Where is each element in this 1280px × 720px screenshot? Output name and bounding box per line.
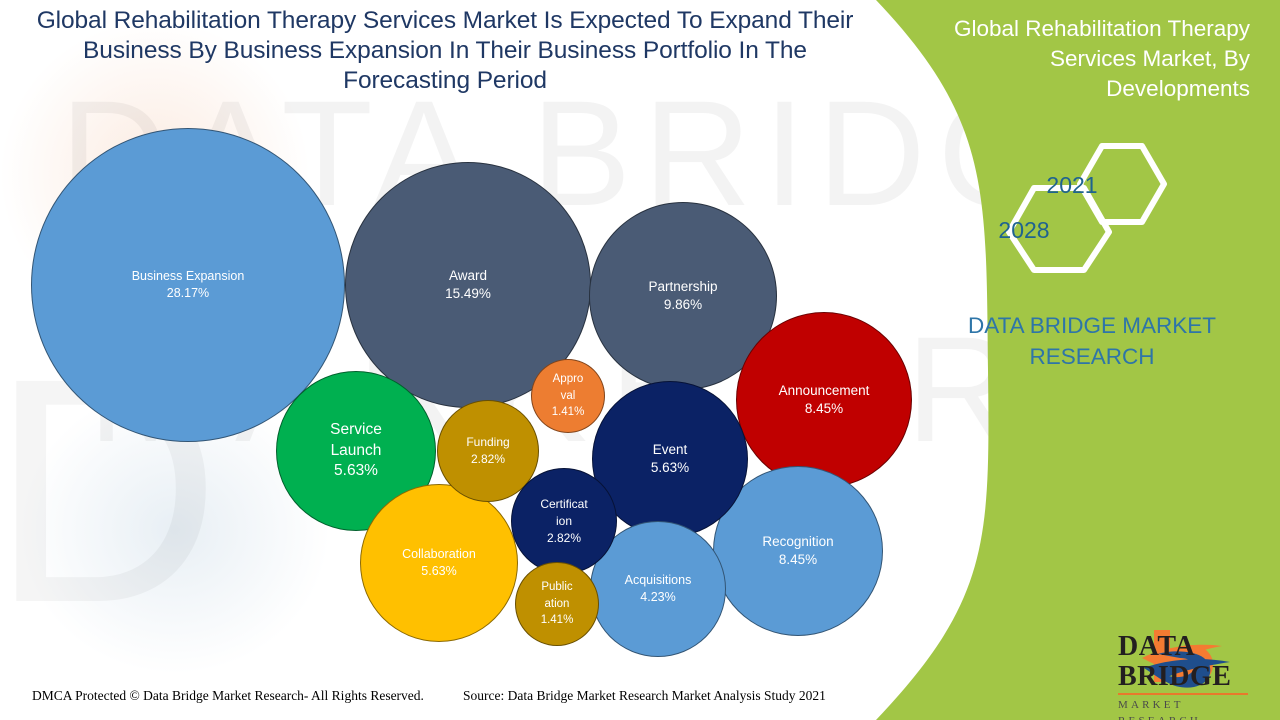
hex-year-front: 2021	[1022, 172, 1122, 199]
hexagon-badges: 2021 2028	[994, 142, 1194, 274]
panel-title: Global Rehabilitation Therapy Services M…	[910, 14, 1250, 104]
right-panel: Global Rehabilitation Therapy Services M…	[840, 0, 1280, 720]
bubble-value: 9.86%	[648, 296, 717, 315]
bubble-value: 2.82%	[466, 451, 509, 468]
bubble-value: 4.23%	[625, 589, 692, 607]
infographic-canvas: DATA BRIDGE MARKET RESEARCH D Global Reh…	[0, 0, 1280, 720]
logo-wordmark: DATA BRIDGE MARKET RESEARCH	[1118, 632, 1248, 720]
footer-source: Source: Data Bridge Market Research Mark…	[463, 686, 826, 706]
bubble-label: Acquisitions	[625, 572, 692, 590]
hex-year-back: 2028	[959, 217, 1089, 244]
bubble-label: Publication	[541, 579, 574, 612]
logo-sub-text: MARKET RESEARCH	[1118, 697, 1248, 720]
brand-name: DATA BRIDGE MARKET RESEARCH	[934, 310, 1250, 372]
bubble-value: 5.63%	[651, 459, 689, 478]
bubble-label: Funding	[466, 434, 509, 451]
bubble-label: Award	[445, 267, 491, 286]
bubble-value: 8.45%	[762, 551, 833, 570]
footer-dmca: DMCA Protected © Data Bridge Market Rese…	[32, 686, 424, 706]
bubble-label: Certification	[540, 496, 587, 530]
bubble-value: 28.17%	[132, 285, 245, 303]
bubble-publication[interactable]: Publication1.41%	[515, 562, 599, 646]
bubble-value: 1.41%	[552, 404, 585, 421]
bubble-label: Collaboration	[402, 546, 476, 564]
bubble-label: ServiceLaunch	[330, 420, 382, 461]
bubble-certification[interactable]: Certification2.82%	[511, 468, 617, 574]
hexagon-icon	[994, 142, 1194, 274]
bubble-value: 2.82%	[540, 530, 587, 547]
logo-main-text: DATA BRIDGE	[1118, 632, 1248, 695]
bubble-value: 1.41%	[541, 612, 574, 629]
bubble-value: 15.49%	[445, 285, 491, 304]
bubble-value: 5.63%	[330, 461, 382, 482]
bubble-label: Approval	[552, 371, 585, 404]
bubble-value: 5.63%	[402, 563, 476, 581]
bubble-label: Event	[651, 441, 689, 460]
bubble-chart: Business Expansion28.17%Award15.49%Partn…	[0, 0, 930, 700]
company-logo: DATA BRIDGE MARKET RESEARCH	[1008, 624, 1248, 698]
bubble-collaboration[interactable]: Collaboration5.63%	[360, 484, 518, 642]
bubble-label: Recognition	[762, 533, 833, 552]
bubble-approval[interactable]: Approval1.41%	[531, 359, 605, 433]
bubble-label: Business Expansion	[132, 268, 245, 286]
bubble-label: Partnership	[648, 278, 717, 297]
footer: DMCA Protected © Data Bridge Market Rese…	[0, 686, 860, 708]
